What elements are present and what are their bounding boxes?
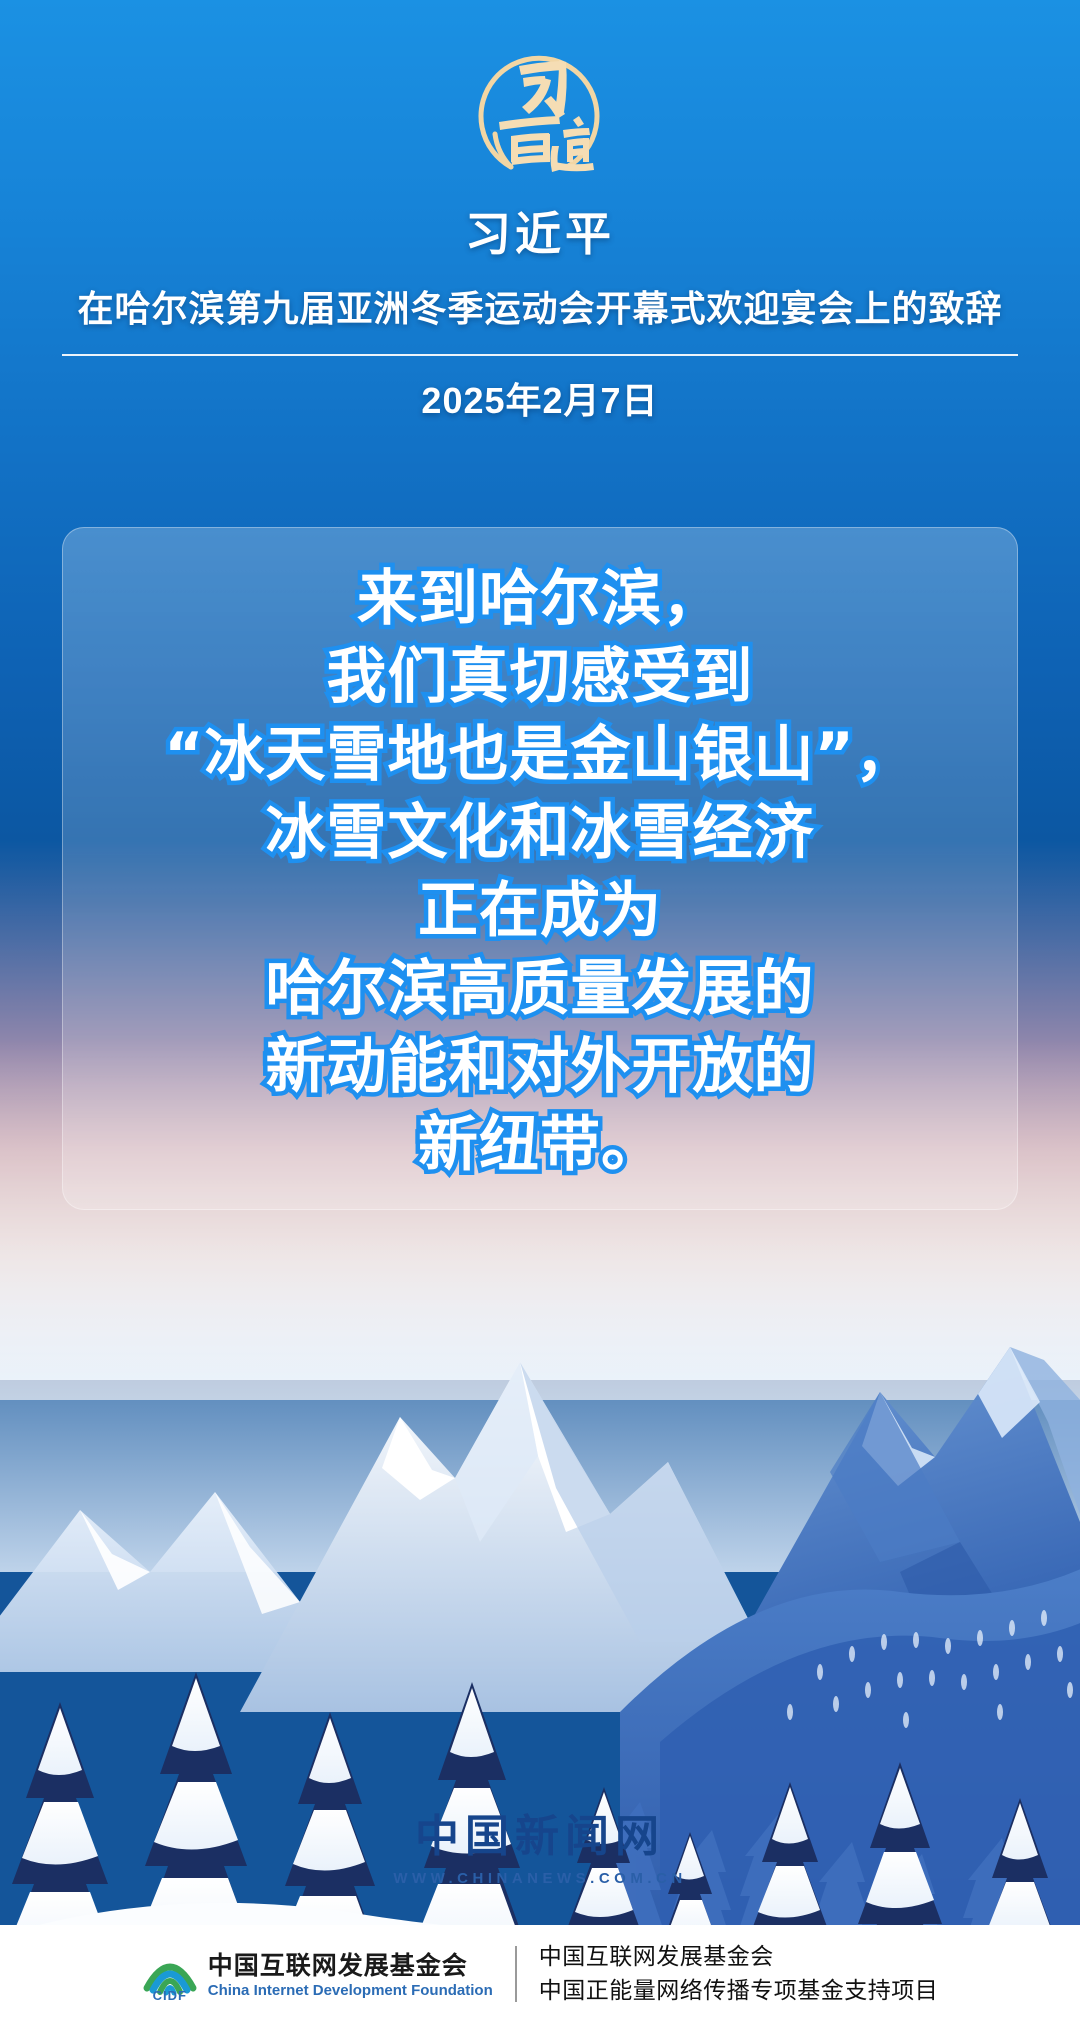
quote-card-panel <box>62 527 1018 1210</box>
speaker-name: 习近平 <box>0 198 1080 264</box>
cidf-name-block: 中国互联网发展基金会 China Internet Development Fo… <box>208 1952 493 1999</box>
chinanews-logo: 中国新闻网 WWW.CHINANEWS.COM.CN <box>0 1800 1080 1887</box>
xiyandao-seal-logo <box>455 34 625 182</box>
cidf-logo: CIDF 中国互联网发展基金会 China Internet Developme… <box>142 1948 493 2000</box>
speech-date: 2025年2月7日 <box>0 372 1080 424</box>
poster-header: 习近平 在哈尔滨第九届亚洲冬季运动会开幕式欢迎宴会上的致辞 2025年2月7日 <box>0 0 1080 424</box>
sponsor-credit-line-1: 中国互联网发展基金会 <box>539 1940 939 1973</box>
winter-landscape-illustration <box>0 1242 1080 2022</box>
sponsor-credit-block: 中国互联网发展基金会 中国正能量网络传播专项基金支持项目 <box>539 1940 939 2007</box>
publisher-url: WWW.CHINANEWS.COM.CN <box>0 1870 1080 1887</box>
cidf-name-en: China Internet Development Foundation <box>208 1982 493 2000</box>
header-divider <box>62 354 1018 356</box>
sponsor-credit-line-2: 中国正能量网络传播专项基金支持项目 <box>539 1974 939 2007</box>
poster-canvas: 习近平 在哈尔滨第九届亚洲冬季运动会开幕式欢迎宴会上的致辞 2025年2月7日 … <box>0 0 1080 2022</box>
sponsor-divider <box>515 1946 517 2002</box>
publisher-name: 中国新闻网 <box>0 1800 1080 1864</box>
cidf-abbr: CIDF <box>142 1988 198 2003</box>
cidf-arcs-icon: CIDF <box>142 1948 198 2000</box>
cidf-name-cn: 中国互联网发展基金会 <box>208 1952 493 1982</box>
speech-title: 在哈尔滨第九届亚洲冬季运动会开幕式欢迎宴会上的致辞 <box>0 280 1080 332</box>
sponsor-bar: CIDF 中国互联网发展基金会 China Internet Developme… <box>0 1925 1080 2022</box>
